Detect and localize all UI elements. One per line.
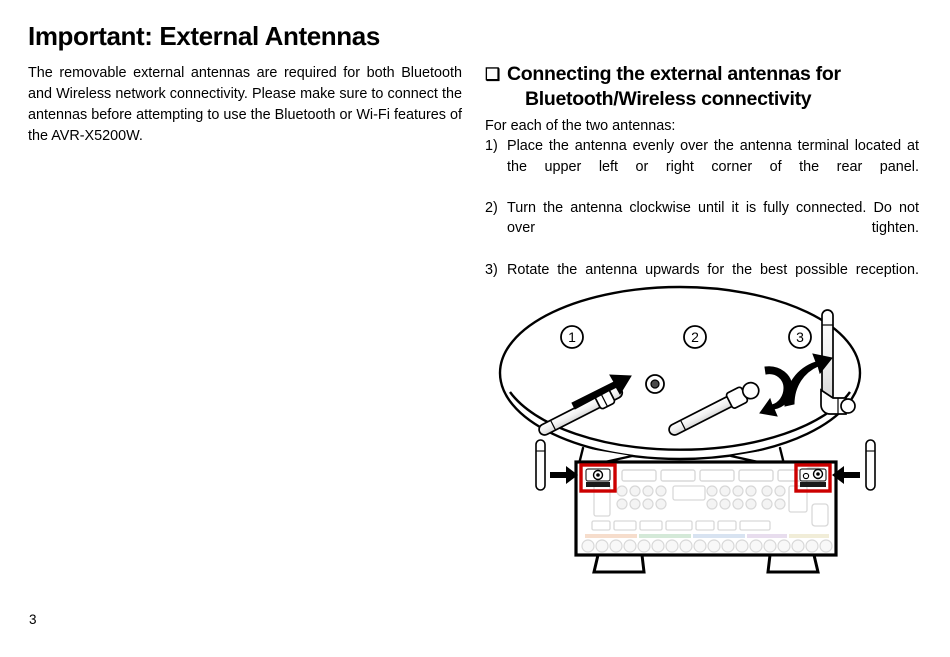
page-title: Important: External Antennas: [28, 22, 462, 51]
left-side-antenna: [536, 440, 545, 490]
intro-paragraph: The removable external antennas are requ…: [28, 63, 462, 146]
speaker-zone-strips: [585, 534, 829, 538]
manual-page: Important: External Antennas The removab…: [0, 0, 950, 657]
step-2-number: 2: [691, 329, 699, 345]
receiver-rear-panel: [576, 462, 836, 572]
step-text: Place the antenna evenly over the antenn…: [507, 136, 919, 198]
square-bullet-icon: ❑: [485, 62, 507, 87]
antenna-installation-figure: 1 2 3: [480, 272, 920, 602]
receiver-foot-left: [594, 555, 644, 572]
step-marker: 1): [485, 136, 498, 157]
steps-lead-in: For each of the two antennas:: [485, 116, 919, 136]
step-1-number: 1: [568, 329, 576, 345]
step-3-marker: 3: [789, 326, 811, 348]
section-heading-line-1: Connecting the external antennas for: [507, 63, 841, 85]
step-3-number: 3: [796, 329, 804, 345]
antenna-terminal: [646, 375, 664, 393]
step-text: Turn the antenna clockwise until it is f…: [507, 198, 919, 260]
receiver-foot-right: [768, 555, 818, 572]
left-insert-arrow-icon: [550, 466, 578, 484]
step-1-marker: 1: [561, 326, 583, 348]
list-item: 2) Turn the antenna clockwise until it i…: [485, 198, 919, 260]
page-number: 3: [29, 612, 37, 628]
callout-balloon: [500, 287, 860, 469]
step-marker: 2): [485, 198, 498, 219]
section-heading-line-2: Bluetooth/Wireless connectivity: [507, 87, 919, 112]
section-heading-text: Connecting the external antennas for Blu…: [507, 62, 919, 112]
section-heading: ❑ Connecting the external antennas for B…: [485, 62, 919, 112]
right-column: ❑ Connecting the external antennas for B…: [485, 62, 919, 301]
antenna-terminal: [841, 399, 855, 413]
list-item: 1) Place the antenna evenly over the ant…: [485, 136, 919, 198]
step-2-marker: 2: [684, 326, 706, 348]
left-column: Important: External Antennas The removab…: [28, 22, 462, 146]
right-side-antenna: [866, 440, 875, 490]
